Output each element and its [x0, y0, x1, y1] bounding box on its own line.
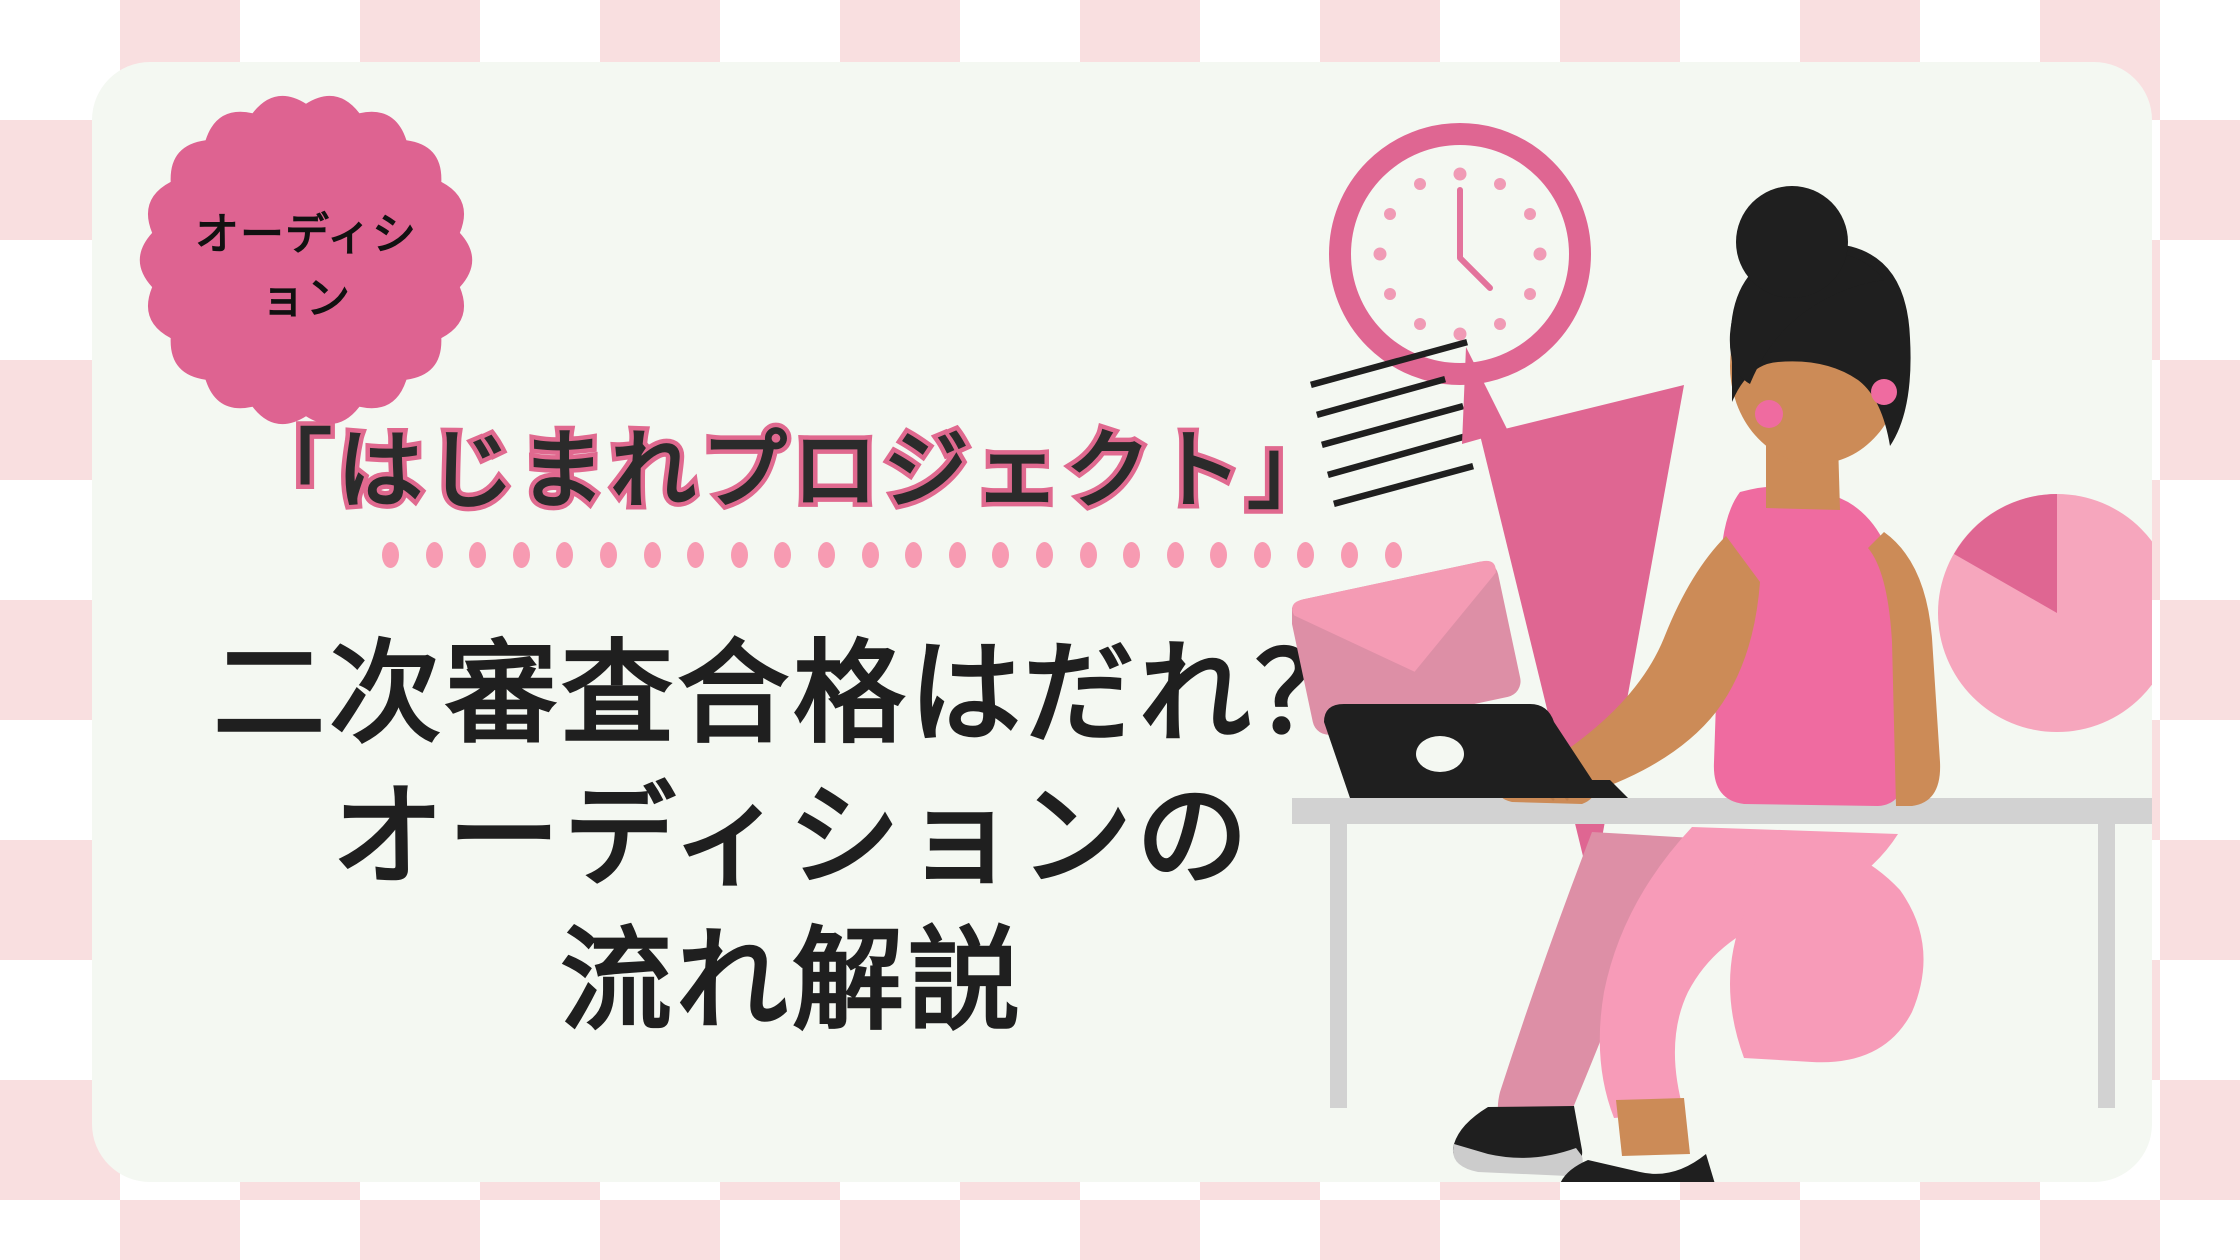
divider-dot [644, 542, 661, 568]
divider-dot [1254, 542, 1271, 568]
dotted-divider [382, 540, 1402, 570]
hero-illustration [1292, 62, 2152, 1182]
divider-dot [862, 542, 879, 568]
divider-dot [1210, 542, 1227, 568]
badge-line-2: ョン [261, 267, 351, 331]
divider-dot [513, 542, 530, 568]
divider-dot [1123, 542, 1140, 568]
divider-dot [556, 542, 573, 568]
divider-dot [905, 542, 922, 568]
divider-dot [1080, 542, 1097, 568]
divider-dot [774, 542, 791, 568]
headline-line-2: オーディションの [92, 765, 1492, 908]
audition-badge: オーディシ ョン [120, 74, 492, 446]
divider-dot [600, 542, 617, 568]
page-title: 二次審査合格はだれ？ オーディションの 流れ解説 [92, 622, 1492, 1052]
headline-line-1: 二次審査合格はだれ？ [92, 622, 1492, 765]
divider-dot [1167, 542, 1184, 568]
divider-dot [469, 542, 486, 568]
divider-dot [992, 542, 1009, 568]
person-figure [1453, 186, 1940, 1182]
pie-chart-icon [1938, 494, 2152, 732]
content-card: 「はじまれプロジェクト」 二次審査合格はだれ？ オーディションの 流れ解説 [92, 62, 2152, 1182]
divider-dot [1036, 542, 1053, 568]
divider-dot [818, 542, 835, 568]
divider-dot [687, 542, 704, 568]
headline-line-3: 流れ解説 [92, 909, 1492, 1052]
divider-dot [949, 542, 966, 568]
badge-label: オーディシ ョン [120, 74, 492, 446]
wall-clock-icon [1340, 134, 1580, 374]
divider-dot [382, 542, 399, 568]
divider-dot [731, 542, 748, 568]
badge-line-1: オーディシ [195, 203, 417, 267]
divider-dot [426, 542, 443, 568]
